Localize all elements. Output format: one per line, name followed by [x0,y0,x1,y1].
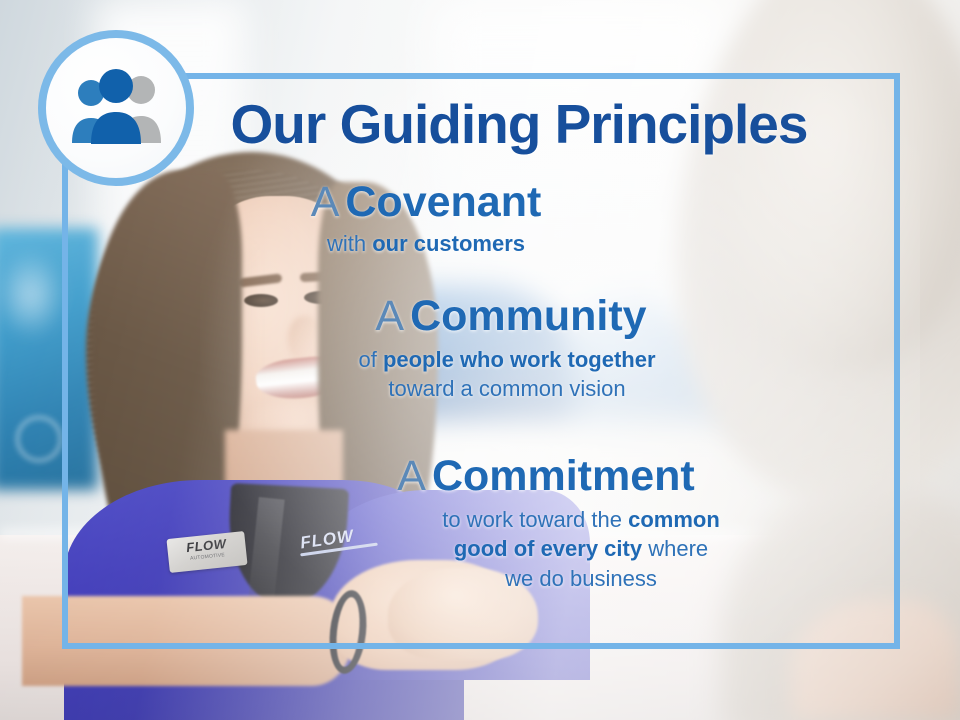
commitment-sub-plain-2: where [642,536,708,561]
principle-community: ACommunity of people who work together t… [62,295,900,404]
principle-commitment-heading: ACommitment [62,455,900,499]
principle-commitment-word: Commitment [432,452,695,500]
covenant-sub-bold-1: our customers [372,231,525,256]
principle-covenant-article: A [311,178,340,226]
community-sub-bold-1: people who work together [383,347,656,372]
content-block: Our Guiding Principles ACovenant with ou… [62,73,900,649]
principle-community-heading: ACommunity [62,295,900,339]
commitment-sub-line-1: to work toward the common [262,505,900,534]
display-screen-glow [0,250,66,340]
covenant-sub-plain-1: with [327,231,372,256]
commitment-sub-bold-2: good of every city [454,536,642,561]
guiding-principles-badge [38,30,194,186]
principle-covenant-heading: ACovenant [62,181,900,225]
poster-canvas: FLOW AUTOMOTIVE FLOW Our Guiding Princip… [0,0,960,720]
principle-covenant: ACovenant with our customers [62,181,900,258]
community-sub-line-2: toward a common vision [114,374,900,403]
principle-covenant-word: Covenant [345,178,541,226]
principle-commitment: ACommitment to work toward the common go… [62,455,900,593]
commitment-sub-line-2: good of every city where [262,534,900,563]
community-sub-line-1: of people who work together [114,345,900,374]
principle-community-word: Community [410,292,647,340]
display-screen-logo [16,416,62,462]
principle-commitment-article: A [397,452,426,500]
commitment-sub-line-3: we do business [262,564,900,593]
principle-covenant-subtext: with our customers [62,229,900,258]
people-group-icon [63,69,169,147]
principle-commitment-subtext: to work toward the common good of every … [62,505,900,593]
commitment-sub-bold-1: common [628,507,720,532]
principle-community-subtext: of people who work together toward a com… [62,345,900,404]
commitment-sub-plain-1: to work toward the [442,507,628,532]
principle-community-article: A [375,292,404,340]
community-sub-plain-1: of [358,347,382,372]
